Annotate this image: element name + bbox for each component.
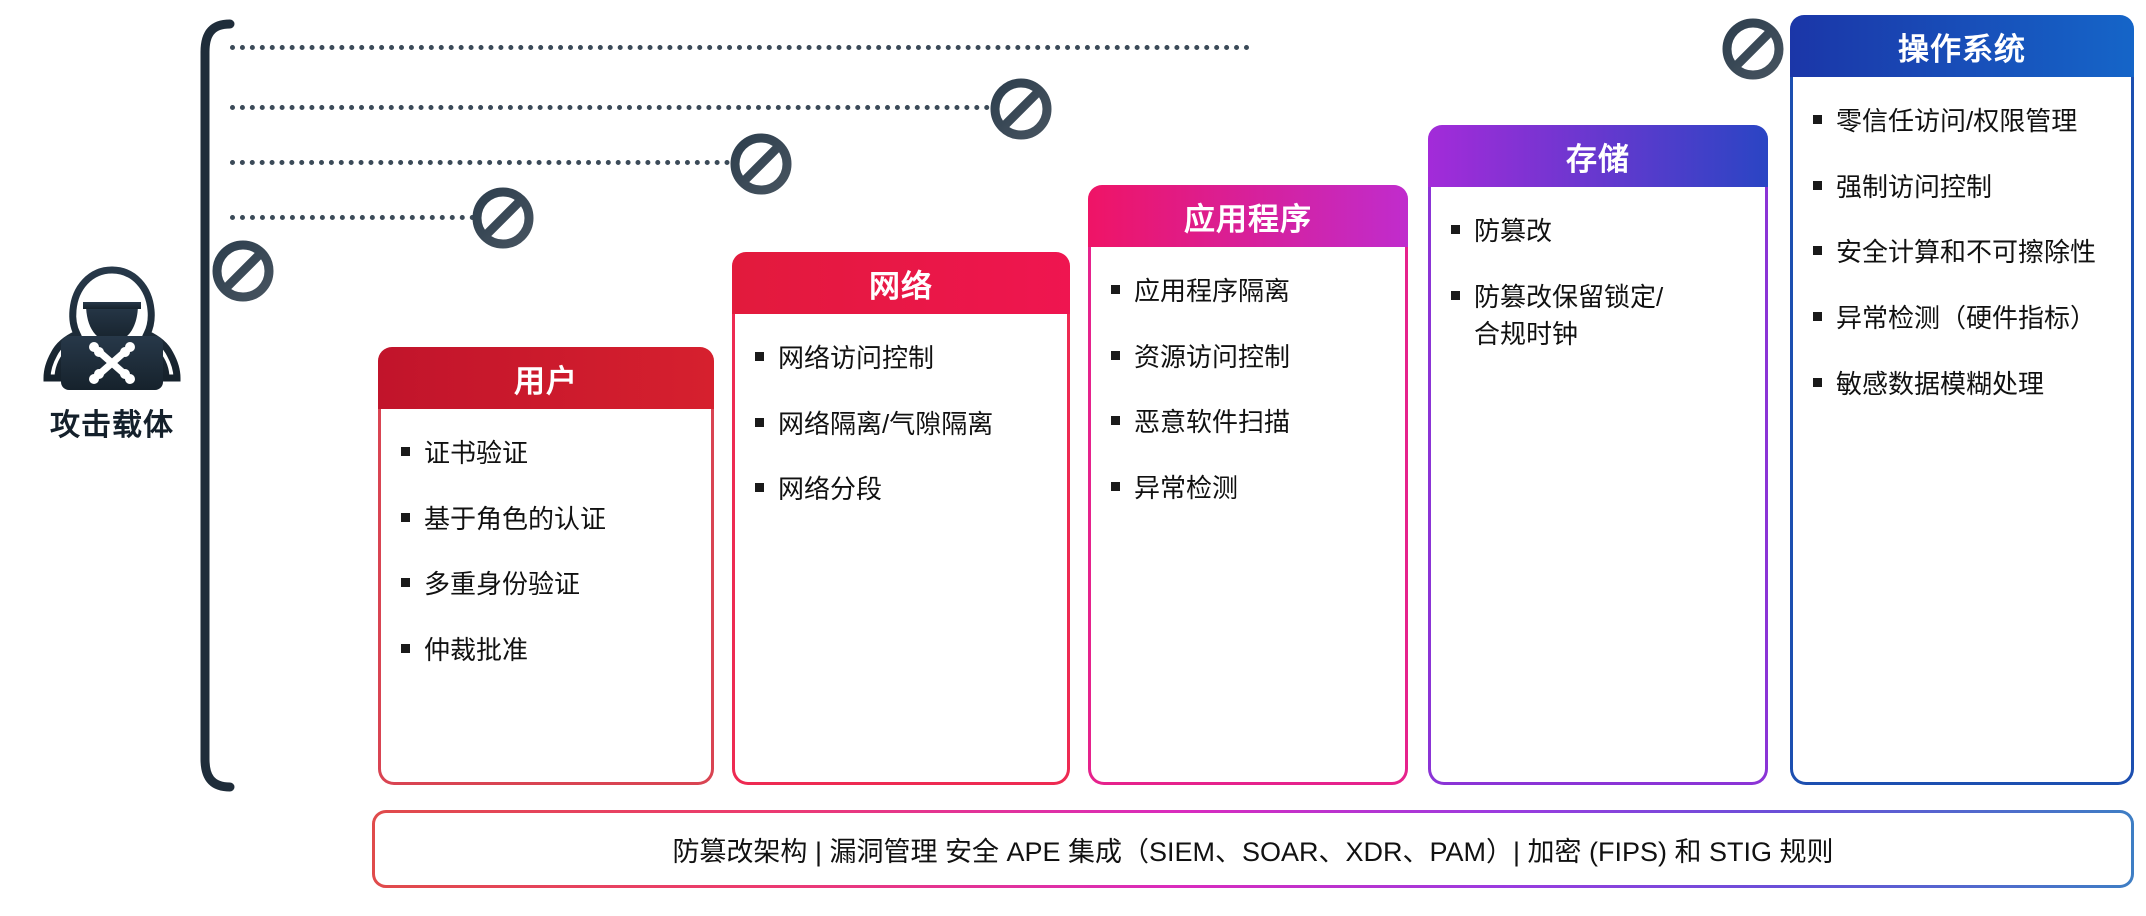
pillar-card-application[interactable]: 应用程序 应用程序隔离 资源访问控制 恶意软件扫描 异常检测 xyxy=(1088,188,1408,785)
list-item: 网络访问控制 xyxy=(755,340,1051,378)
list-item: 网络隔离/气隙隔离 xyxy=(755,406,1051,444)
list-item: 多重身份验证 xyxy=(401,566,695,604)
bullet-icon xyxy=(1813,246,1822,255)
bullet-icon xyxy=(755,418,764,427)
pillar-title-operating-system: 操作系统 xyxy=(1898,24,2026,69)
connector-line-os xyxy=(230,45,1250,50)
list-item: 异常检测 xyxy=(1111,470,1389,508)
bullet-icon xyxy=(1813,115,1822,124)
pillar-header-operating-system: 操作系统 xyxy=(1790,15,2134,77)
list-item: 证书验证 xyxy=(401,435,695,473)
hacker-icon xyxy=(28,262,196,390)
bullet-icon xyxy=(755,483,764,492)
no-entry-icon xyxy=(990,78,1052,140)
pillar-title-storage: 存储 xyxy=(1566,134,1630,179)
bullet-icon xyxy=(1111,351,1120,360)
list-item: 安全计算和不可擦除性 xyxy=(1813,234,2115,272)
bullet-icon xyxy=(1451,225,1460,234)
bullet-icon xyxy=(1111,285,1120,294)
foundation-bar-text: 防篡改架构 | 漏洞管理 安全 APE 集成（SIEM、SOAR、XDR、PAM… xyxy=(672,830,1833,869)
connector-line-storage xyxy=(230,105,990,110)
foundation-bar: 防篡改架构 | 漏洞管理 安全 APE 集成（SIEM、SOAR、XDR、PAM… xyxy=(372,810,2134,888)
list-item: 异常检测（硬件指标） xyxy=(1813,300,2115,338)
pillar-header-user: 用户 xyxy=(378,347,714,409)
list-item: 应用程序隔离 xyxy=(1111,273,1389,311)
list-item: 强制访问控制 xyxy=(1813,169,2115,207)
pillar-card-operating-system[interactable]: 操作系统 零信任访问/权限管理 强制访问控制 安全计算和不可擦除性 异常检测（硬… xyxy=(1790,18,2134,785)
list-item: 基于角色的认证 xyxy=(401,501,695,539)
connector-line-network xyxy=(230,215,475,220)
list-item: 恶意软件扫描 xyxy=(1111,404,1389,442)
pillar-header-network: 网络 xyxy=(732,252,1070,314)
bullet-icon xyxy=(1813,312,1822,321)
bullet-icon xyxy=(401,513,410,522)
attack-vector-group: 攻击载体 xyxy=(28,262,196,444)
bullet-icon xyxy=(401,447,410,456)
foundation-bar-inner: 防篡改架构 | 漏洞管理 安全 APE 集成（SIEM、SOAR、XDR、PAM… xyxy=(375,813,2131,885)
connector-line-app xyxy=(230,160,730,165)
bullet-icon xyxy=(401,578,410,587)
bullet-icon xyxy=(755,352,764,361)
bullet-icon xyxy=(1111,482,1120,491)
pillar-body-user: 证书验证 基于角色的认证 多重身份验证 仲裁批准 xyxy=(381,409,711,708)
pillar-header-application: 应用程序 xyxy=(1088,185,1408,247)
pillar-title-user: 用户 xyxy=(514,356,578,401)
pillar-card-storage[interactable]: 存储 防篡改 防篡改保留锁定/ 合规时钟 xyxy=(1428,128,1768,785)
pillar-title-application: 应用程序 xyxy=(1184,194,1312,239)
attack-vector-label: 攻击载体 xyxy=(28,400,196,444)
list-item: 资源访问控制 xyxy=(1111,339,1389,377)
pillar-body-storage: 防篡改 防篡改保留锁定/ 合规时钟 xyxy=(1431,187,1765,392)
list-item: 网络分段 xyxy=(755,471,1051,509)
pillar-title-network: 网络 xyxy=(869,261,933,306)
pillar-body-operating-system: 零信任访问/权限管理 强制访问控制 安全计算和不可擦除性 异常检测（硬件指标） … xyxy=(1793,77,2131,441)
list-item: 敏感数据模糊处理 xyxy=(1813,366,2115,404)
no-entry-icon xyxy=(1722,18,1784,80)
pillar-body-application: 应用程序隔离 资源访问控制 恶意软件扫描 异常检测 xyxy=(1091,247,1405,546)
list-item: 防篡改保留锁定/ 合规时钟 xyxy=(1451,279,1749,354)
defense-bracket xyxy=(196,18,258,793)
pillar-header-storage: 存储 xyxy=(1428,125,1768,187)
no-entry-icon xyxy=(472,187,534,249)
bullet-icon xyxy=(1813,378,1822,387)
list-item: 防篡改 xyxy=(1451,213,1749,251)
bullet-icon xyxy=(1813,181,1822,190)
bullet-icon xyxy=(401,644,410,653)
list-item: 仲裁批准 xyxy=(401,632,695,670)
pillar-card-user[interactable]: 用户 证书验证 基于角色的认证 多重身份验证 仲裁批准 xyxy=(378,350,714,785)
bullet-icon xyxy=(1111,416,1120,425)
bullet-icon xyxy=(1451,291,1460,300)
no-entry-icon xyxy=(212,240,274,302)
pillar-card-network[interactable]: 网络 网络访问控制 网络隔离/气隙隔离 网络分段 xyxy=(732,255,1070,785)
no-entry-icon xyxy=(730,133,792,195)
list-item: 零信任访问/权限管理 xyxy=(1813,103,2115,141)
pillar-body-network: 网络访问控制 网络隔离/气隙隔离 网络分段 xyxy=(735,314,1067,547)
